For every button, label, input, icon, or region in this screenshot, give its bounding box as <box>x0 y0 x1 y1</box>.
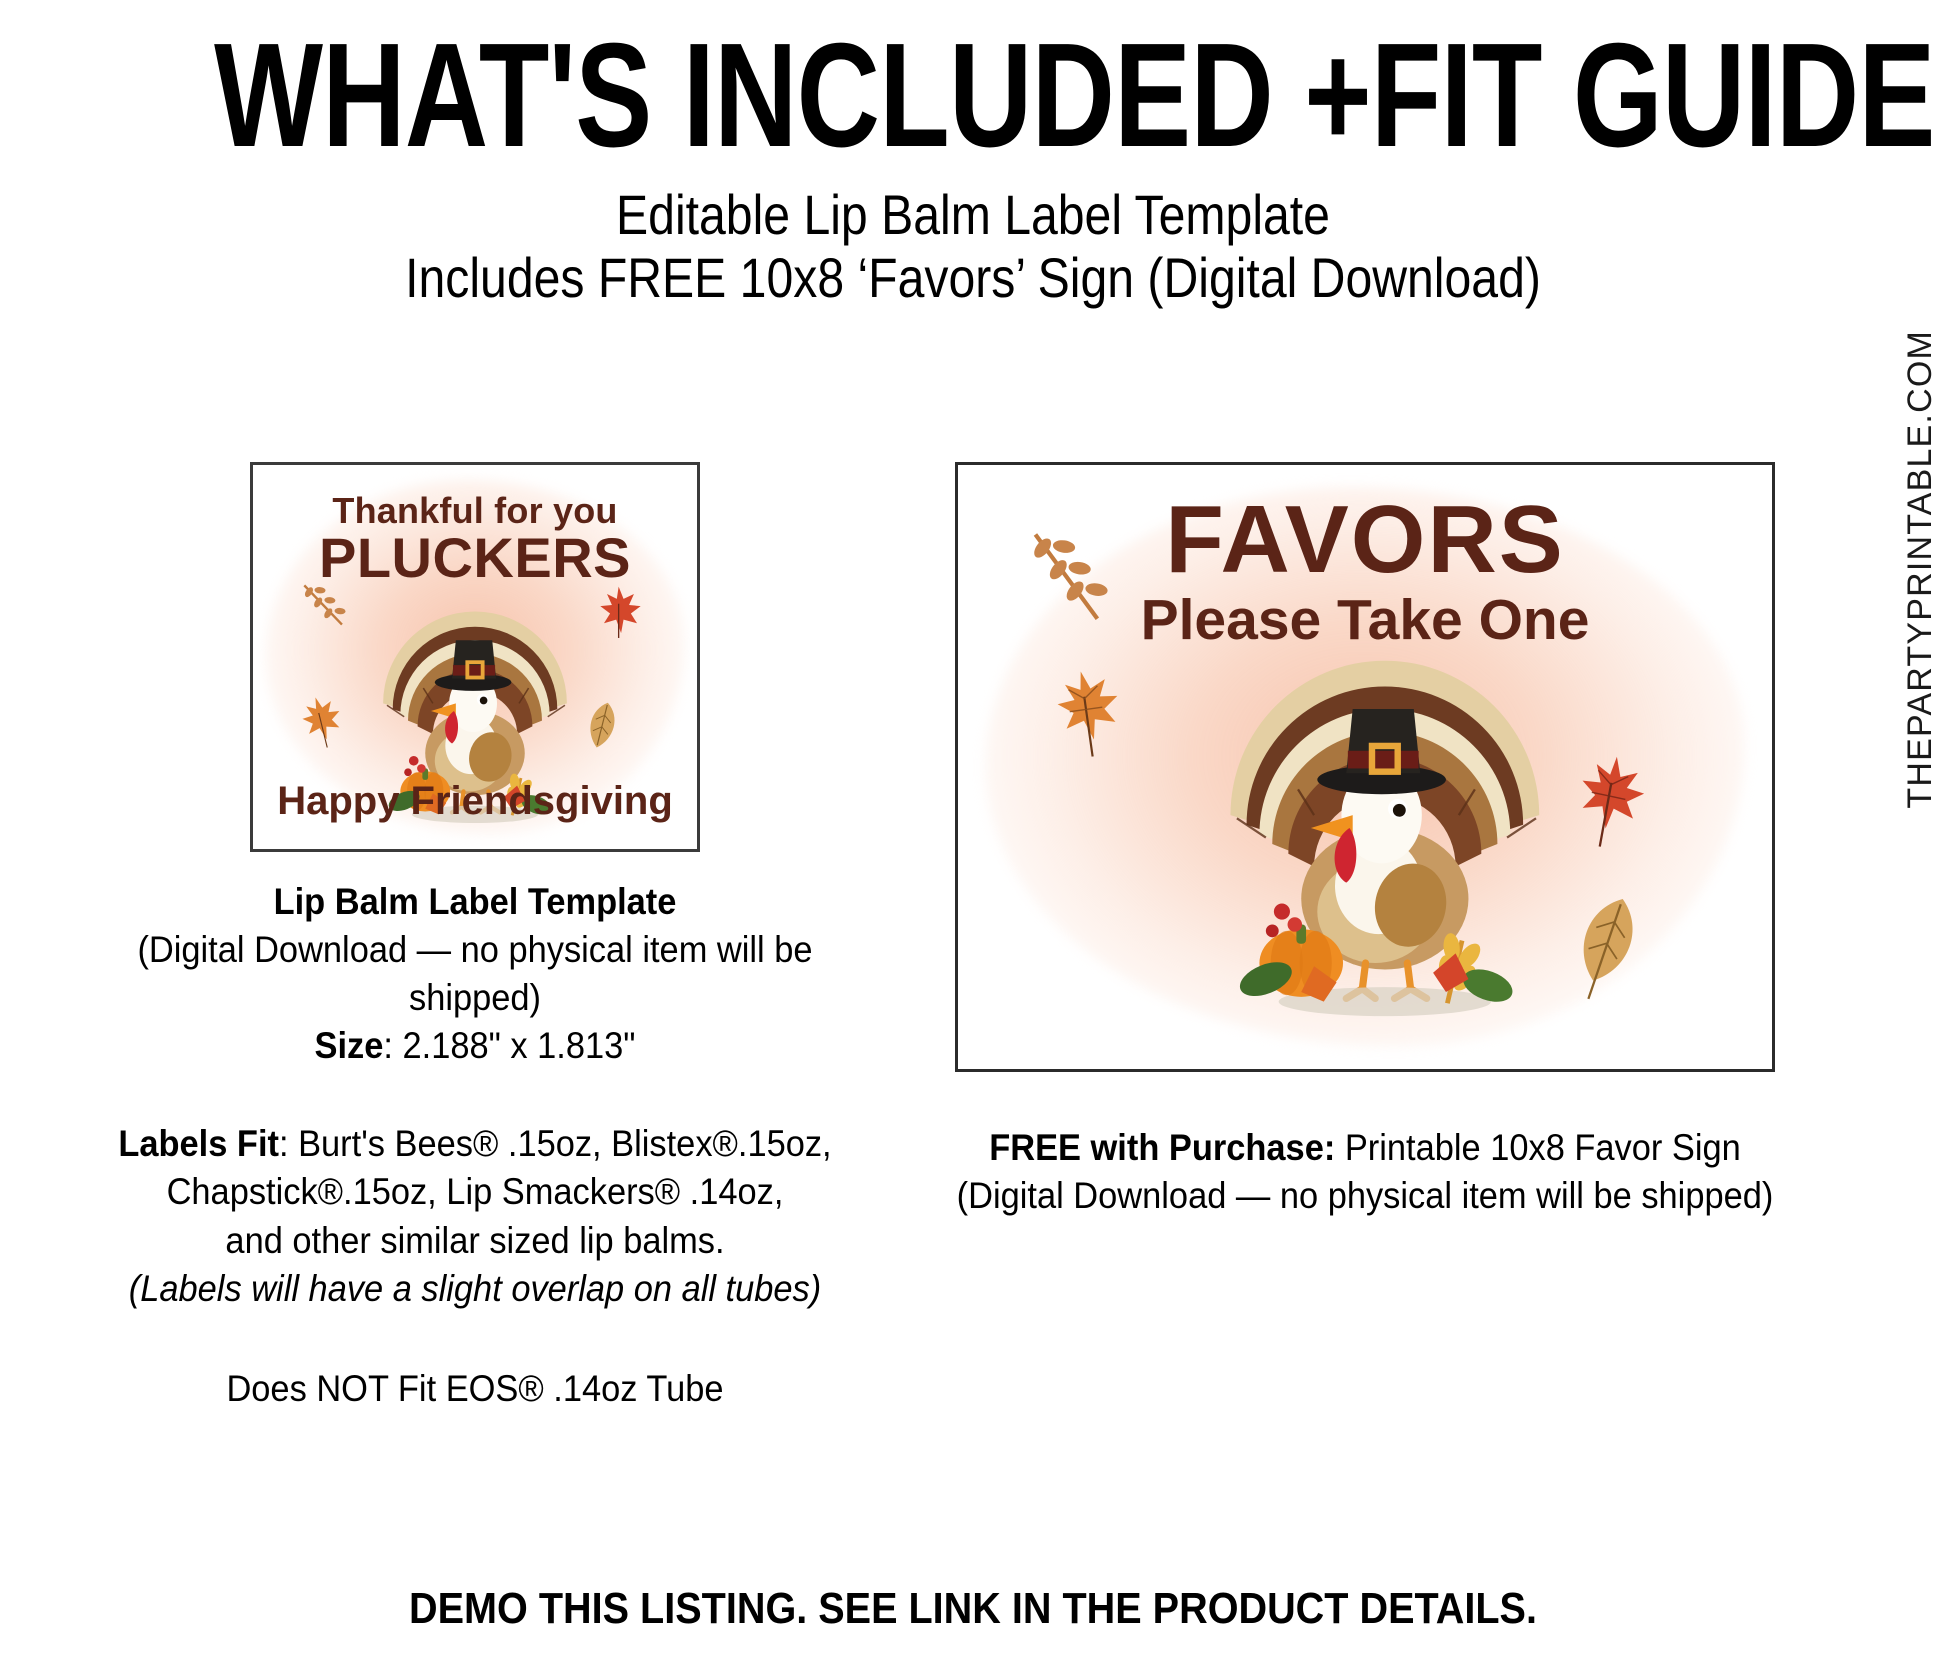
label-line-happy: Happy Friendsgiving <box>253 781 697 821</box>
not-fit-note: Does NOT Fit EOS® .14oz Tube <box>108 1365 843 1413</box>
sign-top-text: FAVORS Please Take One <box>958 491 1772 652</box>
leaf-icon <box>585 700 619 750</box>
main-content: Thankful for you PLUCKERS <box>0 462 1946 1413</box>
footer-note: DEMO THIS LISTING. SEE LINK IN THE PRODU… <box>97 1584 1848 1634</box>
sign-line-favors: FAVORS <box>958 491 1772 589</box>
left-caption-notfit: Does NOT Fit EOS® .14oz Tube <box>108 1365 843 1413</box>
free-label: FREE with Purchase: <box>989 1127 1335 1168</box>
right-caption-free: FREE with Purchase: Printable 10x8 Favor… <box>872 1124 1858 1220</box>
maple-leaf-icon <box>600 587 640 638</box>
fit-label: Labels Fit <box>118 1123 279 1164</box>
label-line-thankful: Thankful for you <box>253 493 697 529</box>
sign-line-take-one: Please Take One <box>958 589 1772 652</box>
page-title: WHAT'S INCLUDED +FIT GUIDE <box>214 26 1732 167</box>
maple-leaf-icon <box>1570 751 1651 854</box>
fit-line-3: and other similar sized lip balms. <box>108 1217 843 1265</box>
fit-line-1: : Burt's Bees® .15oz, Blistex®.15oz, <box>279 1123 832 1164</box>
subtitle-line-1: Editable Lip Balm Label Template <box>136 185 1810 245</box>
left-caption-fit: Labels Fit: Burt's Bees® .15oz, Blistex®… <box>108 1120 843 1312</box>
left-caption-title: Lip Balm Label Template <box>274 881 677 922</box>
left-caption-template: Lip Balm Label Template (Digital Downloa… <box>122 878 829 1070</box>
label-line-pluckers: PLUCKERS <box>253 529 697 588</box>
overlap-note: (Labels will have a slight overlap on al… <box>129 1268 821 1309</box>
favor-sign-preview: FAVORS Please Take One <box>955 462 1775 1072</box>
subtitle-line-2: Includes FREE 10x8 ‘Favors’ Sign (Digita… <box>136 245 1810 311</box>
left-column: Thankful for you PLUCKERS <box>60 462 890 1413</box>
right-caption-digital-note: (Digital Download — no physical item wil… <box>872 1172 1858 1220</box>
label-top-text: Thankful for you PLUCKERS <box>253 493 697 588</box>
subtitle-block: Editable Lip Balm Label Template Include… <box>0 185 1946 312</box>
size-value: : 2.188" x 1.813" <box>383 1025 635 1066</box>
size-label: Size <box>315 1025 384 1066</box>
right-column: FAVORS Please Take One <box>900 462 1830 1220</box>
lip-balm-label-preview: Thankful for you PLUCKERS <box>250 462 700 852</box>
free-value: Printable 10x8 Favor Sign <box>1335 1127 1740 1168</box>
label-bottom-text: Happy Friendsgiving <box>253 781 697 821</box>
page-header: WHAT'S INCLUDED +FIT GUIDE Editable Lip … <box>0 0 1946 311</box>
leaf-icon <box>1565 891 1644 1006</box>
fit-line-2: Chapstick®.15oz, Lip Smackers® .14oz, <box>108 1168 843 1216</box>
left-caption-digital-note: (Digital Download — no physical item wil… <box>122 926 829 1022</box>
turkey-body <box>1230 661 1539 1016</box>
maple-leaf-icon <box>299 693 347 751</box>
maple-leaf-icon <box>1054 667 1126 760</box>
